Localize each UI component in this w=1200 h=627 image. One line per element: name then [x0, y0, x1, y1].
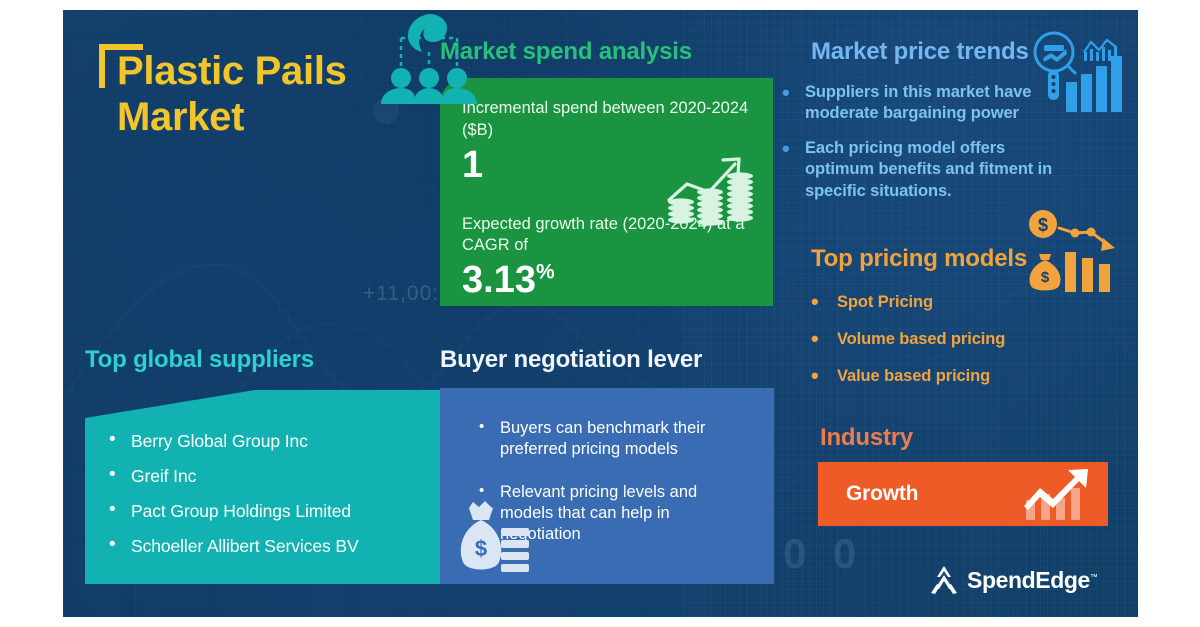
growth-arrow-chart-icon: [1020, 466, 1096, 522]
industry-heading: Industry: [820, 424, 913, 452]
list-item: Value based pricing: [811, 367, 1091, 387]
suppliers-list: Berry Global Group Inc Greif Inc Pact Gr…: [107, 432, 442, 555]
incremental-spend-label: Incremental spend between 2020-2024 ($B): [462, 98, 751, 142]
top-pricing-models-list: Spot Pricing Volume based pricing Value …: [811, 293, 1091, 403]
list-item: Berry Global Group Inc: [107, 432, 442, 450]
market-price-trends-heading: Market price trends: [811, 38, 1029, 66]
top-global-suppliers-block: Berry Global Group Inc Greif Inc Pact Gr…: [85, 390, 442, 584]
list-item: Spot Pricing: [811, 293, 1091, 313]
market-price-trends-list: Suppliers in this market have moderate b…: [783, 82, 1063, 215]
top-pricing-models-heading: Top pricing models: [811, 245, 1027, 273]
money-bag-bills-icon: $: [455, 498, 529, 576]
infographic-root: +11,00:00 0 0 Plastic Pails Market Marke…: [0, 0, 1200, 627]
brand-name-text: SpendEdge: [967, 567, 1090, 593]
magnifier-bar-chart-icon: [1026, 30, 1126, 112]
status-badge-label: Growth: [846, 482, 918, 506]
list-item: Schoeller Allibert Services BV: [107, 537, 442, 555]
cagr-value: 3.13: [462, 259, 536, 301]
list-item: Pact Group Holdings Limited: [107, 502, 442, 520]
market-spend-panel: Incremental spend between 2020-2024 ($B)…: [440, 78, 773, 306]
spendedge-arrow-mark-icon: [929, 565, 959, 595]
brand-trademark: ™: [1090, 572, 1098, 581]
top-global-suppliers-heading: Top global suppliers: [85, 346, 314, 374]
list-item: Volume based pricing: [811, 330, 1091, 350]
buyer-negotiation-heading: Buyer negotiation lever: [440, 346, 702, 374]
list-item: Greif Inc: [107, 467, 442, 485]
background-number-mid: 0: [833, 530, 856, 578]
brand-logo: SpendEdge™: [929, 565, 1098, 595]
list-item: Suppliers in this market have moderate b…: [783, 82, 1063, 125]
cagr-value-row: 3.13%: [462, 261, 751, 299]
svg-text:$: $: [1041, 269, 1050, 286]
page-title-line1: Plastic Pails: [117, 49, 347, 93]
svg-text:$: $: [1038, 215, 1048, 235]
industry-status-badge: Growth: [818, 462, 1108, 526]
svg-text:$: $: [475, 536, 487, 561]
top-global-suppliers-panel: Berry Global Group Inc Greif Inc Pact Gr…: [85, 418, 442, 584]
buyer-negotiation-panel: Buyers can benchmark their preferred pri…: [440, 388, 774, 584]
list-item: Buyers can benchmark their preferred pri…: [476, 418, 726, 460]
page-title-line2: Market: [117, 95, 244, 139]
money-bag-declining-chart-icon: $ $: [1025, 208, 1123, 292]
brand-name: SpendEdge™: [967, 567, 1098, 594]
cagr-unit: %: [536, 260, 555, 283]
globe-network-icon: [381, 12, 477, 104]
background-number-left: 0: [783, 530, 806, 578]
infographic-canvas: +11,00:00 0 0 Plastic Pails Market Marke…: [63, 10, 1138, 617]
market-spend-heading: Market spend analysis: [440, 38, 692, 66]
coin-stack-growth-icon: [663, 146, 757, 228]
list-item: Each pricing model offers optimum benefi…: [783, 138, 1063, 202]
